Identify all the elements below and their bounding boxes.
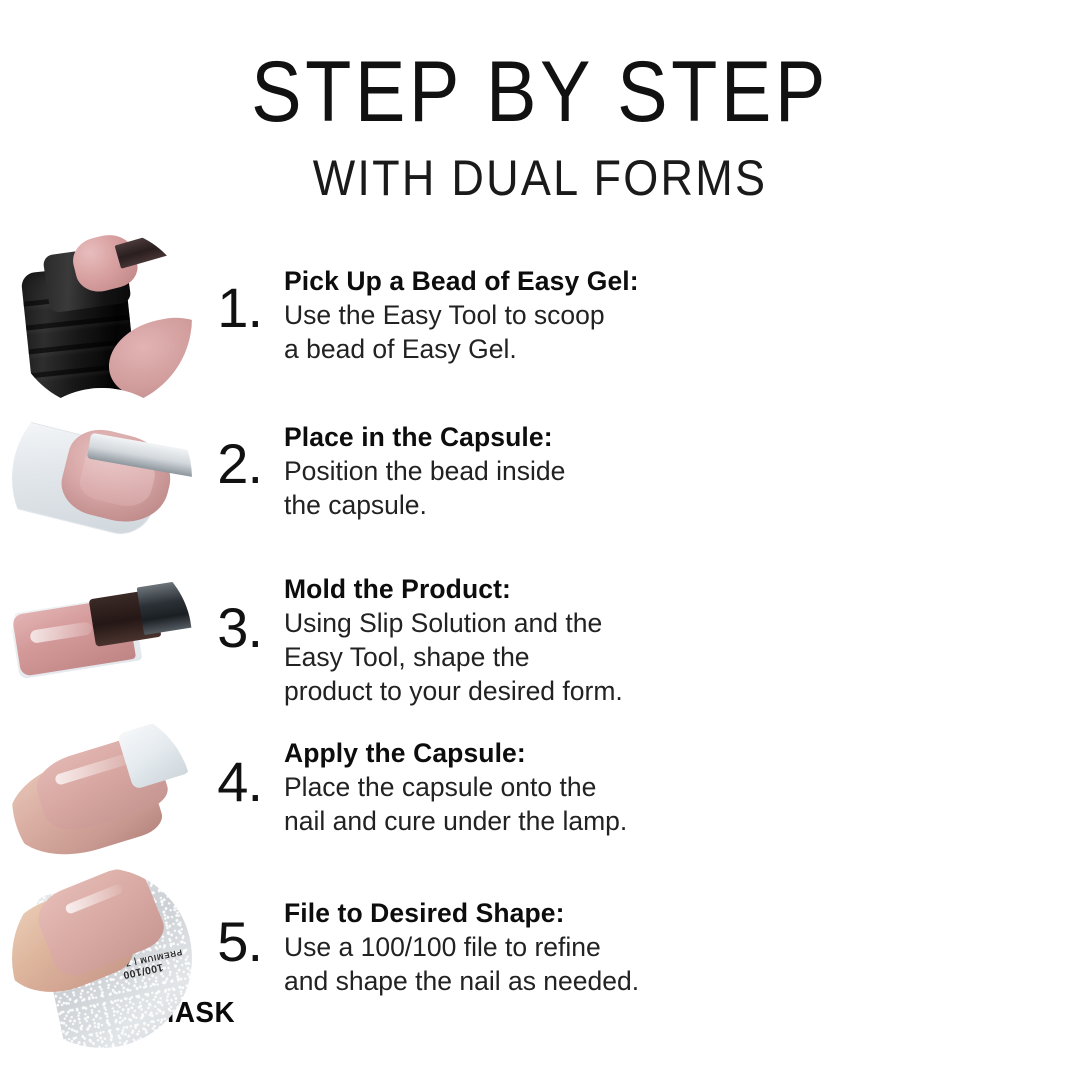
brush-handle-shape (137, 577, 192, 635)
step-body-2: Position the bead inside the capsule. (284, 454, 565, 522)
step-photo-wrap-1 (0, 228, 200, 388)
step-photo-5: 100/100 PREMIUM | ZEBRA (12, 868, 192, 1048)
step-photo-3 (12, 548, 192, 728)
step-photo-wrap-4 (0, 708, 200, 868)
step-item-2: 2. Place in the Capsule: Position the be… (0, 388, 1080, 548)
step-photo-wrap-2 (0, 388, 200, 548)
step-photo-wrap-3 (0, 548, 200, 708)
step-number-2: 2. (200, 388, 268, 492)
step-title-4: Apply the Capsule: (284, 736, 627, 770)
step-title-2: Place in the Capsule: (284, 420, 565, 454)
page-title: STEP BY STEP (65, 46, 1015, 138)
step-title-5: File to Desired Shape: (284, 896, 639, 930)
step-body-5: Use a 100/100 file to refine and shape t… (284, 930, 639, 998)
step-number-5: 5. (200, 868, 268, 970)
step-number-4: 4. (200, 708, 268, 810)
infographic-page: STEP BY STEP WITH DUAL FORMS (0, 0, 1080, 1080)
step-photo-wrap-5: 100/100 PREMIUM | ZEBRA (0, 868, 200, 1028)
step-body-3: Using Slip Solution and the Easy Tool, s… (284, 606, 623, 708)
step-body-4: Place the capsule onto the nail and cure… (284, 770, 627, 838)
step-photo-2 (12, 388, 192, 568)
step-photo-1 (12, 228, 192, 408)
step-number-3: 3. (200, 548, 268, 656)
step-text-3: Mold the Product: Using Slip Solution an… (268, 548, 623, 708)
step-item-3: 3. Mold the Product: Using Slip Solution… (0, 548, 1080, 708)
step-photo-4 (12, 708, 192, 888)
step-text-2: Place in the Capsule: Position the bead … (268, 388, 565, 522)
step-title-3: Mold the Product: (284, 572, 623, 606)
step-item-1: 1. Pick Up a Bead of Easy Gel: Use the E… (0, 228, 1080, 388)
header: STEP BY STEP WITH DUAL FORMS (0, 46, 1080, 206)
step-item-4: 4. Apply the Capsule: Place the capsule … (0, 708, 1080, 868)
step-number-1: 1. (200, 228, 268, 336)
steps-list: 1. Pick Up a Bead of Easy Gel: Use the E… (0, 228, 1080, 1028)
step-body-1: Use the Easy Tool to scoop a bead of Eas… (284, 298, 639, 366)
step-text-1: Pick Up a Bead of Easy Gel: Use the Easy… (268, 228, 639, 366)
step-item-5: 100/100 PREMIUM | ZEBRA 5. File to Desir… (0, 868, 1080, 1028)
page-subtitle: WITH DUAL FORMS (54, 150, 1026, 206)
step-title-1: Pick Up a Bead of Easy Gel: (284, 264, 639, 298)
step-text-5: File to Desired Shape: Use a 100/100 fil… (268, 868, 639, 998)
step-text-4: Apply the Capsule: Place the capsule ont… (268, 708, 627, 838)
